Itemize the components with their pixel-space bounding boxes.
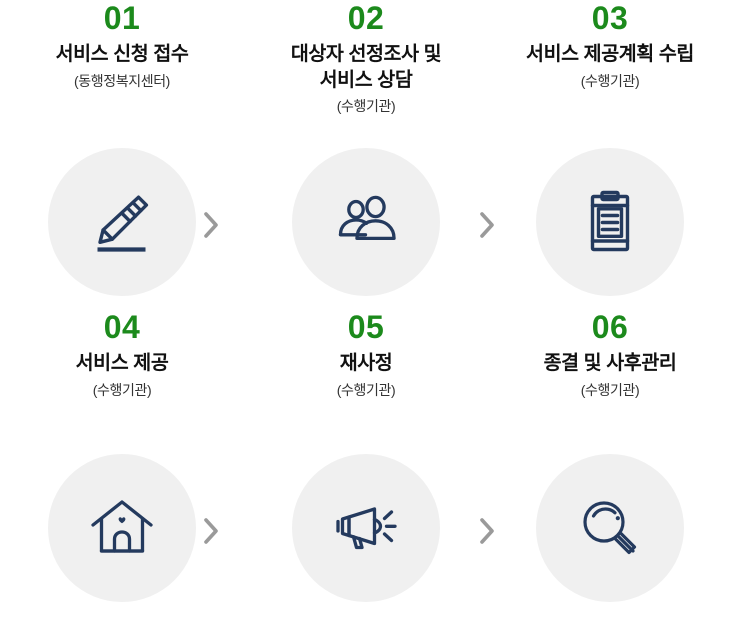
chevron-right-icon bbox=[202, 516, 220, 546]
step-01: 01 서비스 신청 접수 (동행정복지센터) bbox=[0, 0, 244, 90]
flow-chevron-2-3 bbox=[472, 208, 502, 242]
step-01-circle bbox=[48, 148, 196, 296]
step-03-organization: (수행기관) bbox=[488, 72, 732, 90]
step-01-title: 서비스 신청 접수 bbox=[0, 42, 244, 68]
step-06: 06 종결 및 사후관리 (수행기관) bbox=[488, 309, 732, 399]
step-05-number: 05 bbox=[244, 309, 488, 349]
step-04-organization: (수행기관) bbox=[0, 381, 244, 399]
step-05-title: 재사정 bbox=[244, 351, 488, 377]
step-03-title: 서비스 제공계획 수립 bbox=[488, 42, 732, 68]
process-row-1: 01 서비스 신청 접수 (동행정복지센터) 02 대상자 선정조사 및 서비스… bbox=[0, 0, 732, 309]
step-06-title: 종결 및 사후관리 bbox=[488, 351, 732, 377]
step-03: 03 서비스 제공계획 수립 (수행기관) bbox=[488, 0, 732, 90]
flow-chevron-1-2 bbox=[196, 208, 226, 242]
pencil-writing-icon bbox=[83, 183, 161, 261]
step-05-circle bbox=[292, 454, 440, 602]
step-02: 02 대상자 선정조사 및 서비스 상담 (수행기관) bbox=[244, 0, 488, 116]
chevron-right-icon bbox=[478, 516, 496, 546]
step-06-number: 06 bbox=[488, 309, 732, 349]
step-05-icon-container bbox=[244, 454, 488, 602]
step-06-icon-container bbox=[488, 454, 732, 602]
step-02-title: 대상자 선정조사 및 서비스 상담 bbox=[244, 42, 488, 93]
flow-chevron-5-6 bbox=[472, 514, 502, 548]
megaphone-icon bbox=[327, 489, 405, 567]
step-03-number: 03 bbox=[488, 0, 732, 40]
step-02-organization: (수행기관) bbox=[244, 97, 488, 115]
step-02-circle bbox=[292, 148, 440, 296]
step-03-icon-container bbox=[488, 148, 732, 296]
step-04-title: 서비스 제공 bbox=[0, 351, 244, 377]
step-01-number: 01 bbox=[0, 0, 244, 40]
step-04-number: 04 bbox=[0, 309, 244, 349]
step-04: 04 서비스 제공 (수행기관) bbox=[0, 309, 244, 399]
two-people-icon bbox=[327, 183, 405, 261]
step-02-icon-container bbox=[244, 148, 488, 296]
process-row-2: 04 서비스 제공 (수행기관) 05 재사정 (수행기관) 06 종결 및 사… bbox=[0, 309, 732, 618]
step-05: 05 재사정 (수행기관) bbox=[244, 309, 488, 399]
house-heart-icon bbox=[83, 489, 161, 567]
process-flow-diagram: 01 서비스 신청 접수 (동행정복지센터) 02 대상자 선정조사 및 서비스… bbox=[0, 0, 732, 618]
step-06-organization: (수행기관) bbox=[488, 381, 732, 399]
chevron-right-icon bbox=[202, 210, 220, 240]
step-01-organization: (동행정복지센터) bbox=[0, 72, 244, 90]
step-03-circle bbox=[536, 148, 684, 296]
step-02-number: 02 bbox=[244, 0, 488, 40]
step-06-circle bbox=[536, 454, 684, 602]
clipboard-icon bbox=[571, 183, 649, 261]
chevron-right-icon bbox=[478, 210, 496, 240]
step-05-organization: (수행기관) bbox=[244, 381, 488, 399]
flow-chevron-4-5 bbox=[196, 514, 226, 548]
magnifying-glass-icon bbox=[571, 489, 649, 567]
step-04-circle bbox=[48, 454, 196, 602]
